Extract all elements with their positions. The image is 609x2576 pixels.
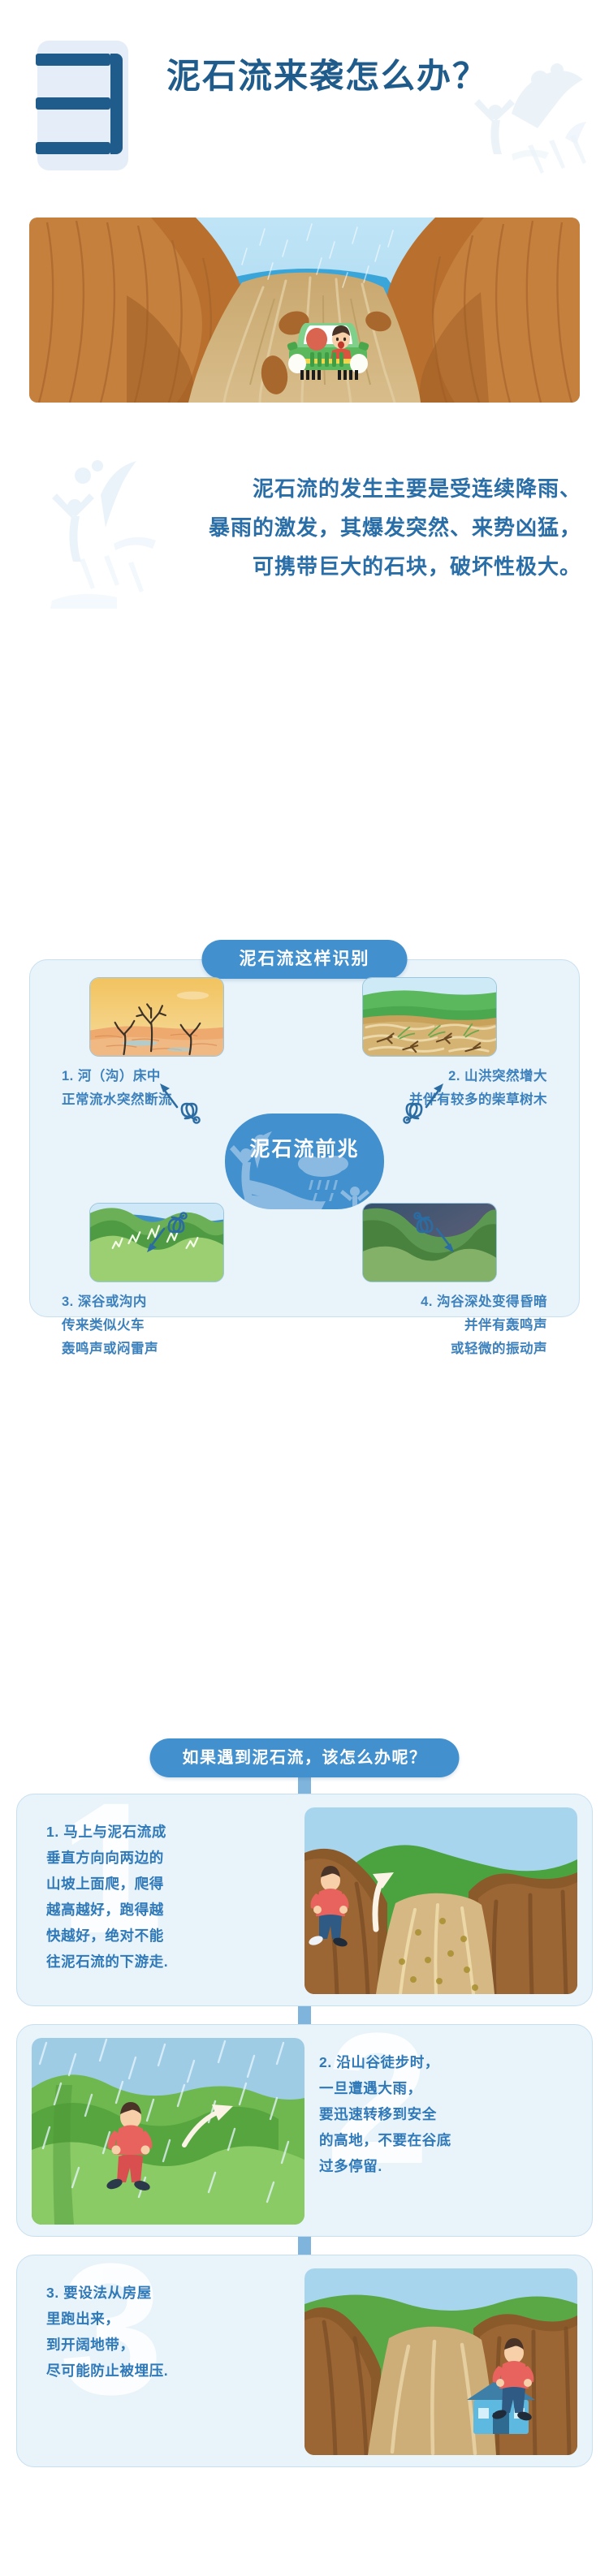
header-decoration-icon bbox=[414, 16, 601, 187]
squiggle-arrow-top-left-icon bbox=[158, 1081, 205, 1125]
step-3-text: 3. 要设法从房屋 里跑出来， 到开阔地带， 尽可能防止被埋压. bbox=[46, 2280, 306, 2384]
identify-item-4-caption: 4. 沟谷深处变得昏暗 并伴有轰鸣声 或轻微的振动声 bbox=[318, 1290, 562, 1361]
identify-item-4-line-3: 或轻微的振动声 bbox=[318, 1338, 547, 1361]
identify-section: 泥石流这样识别 bbox=[29, 940, 580, 1317]
squiggle-arrow-bottom-right-icon bbox=[409, 1211, 456, 1255]
person-running-uphill-in-rain-icon bbox=[32, 2038, 304, 2225]
step-1-line-1: 1. 马上与泥石流成 bbox=[46, 1819, 290, 1845]
person-climbing-slope-away-from-mudflow-icon bbox=[304, 1807, 577, 1994]
step-3-line-4: 尽可能防止被埋压. bbox=[46, 2358, 306, 2384]
step-card-2[interactable]: 2 2. 沿山谷徒步时， 一旦遭遇大雨， 要迅速转移到安全 的高地，不要在谷底 … bbox=[16, 2024, 593, 2237]
intro-section: 泥石流的发生主要是受连续降雨、 暴雨的激发，其爆发突然、来势凶猛， 可携带巨大的… bbox=[0, 454, 609, 657]
connector-2 bbox=[298, 2006, 311, 2026]
step-2-text: 2. 沿山谷徒步时， 一旦遭遇大雨， 要迅速转移到安全 的高地，不要在谷底 过多… bbox=[319, 2049, 563, 2179]
intro-line-3: 可携带巨大的石块，破坏性极大。 bbox=[29, 547, 581, 586]
step-2-line-3: 要迅速转移到安全 bbox=[319, 2101, 563, 2127]
identify-section-title: 泥石流这样识别 bbox=[202, 940, 408, 979]
step-1-line-3: 山坡上面爬，爬得 bbox=[46, 1871, 290, 1897]
identify-item-3-caption: 3. 深谷或沟内 传来类似火车 轰鸣声或闷雷声 bbox=[47, 1290, 291, 1361]
step-2-line-5: 过多停留. bbox=[319, 2153, 563, 2179]
intro-line-2: 暴雨的激发，其爆发突然、来势凶猛， bbox=[29, 508, 581, 547]
step-2-line-1: 2. 沿山谷徒步时， bbox=[319, 2049, 563, 2075]
identify-item-3-line-1: 3. 深谷或沟内 bbox=[62, 1290, 291, 1314]
identify-item-3-line-2: 传来类似火车 bbox=[62, 1314, 291, 1338]
intro-line-1: 泥石流的发生主要是受连续降雨、 bbox=[29, 469, 581, 508]
step-3-line-1: 3. 要设法从房屋 bbox=[46, 2280, 306, 2306]
step-card-3[interactable]: 3 3. 要设法从房屋 里跑出来， 到开阔地带， 尽可能防止被埋压. bbox=[16, 2255, 593, 2467]
step-1-line-2: 垂直方向向两边的 bbox=[46, 1845, 290, 1871]
identify-center-badge: 泥石流前兆 bbox=[225, 1114, 384, 1209]
hero-illustration bbox=[29, 218, 580, 403]
squiggle-arrow-top-right-icon bbox=[399, 1081, 446, 1125]
step-card-1[interactable]: 1 1. 马上与泥石流成 垂直方向向两边的 山坡上面爬，爬得 越高越好，跑得越 … bbox=[16, 1794, 593, 2006]
intro-paragraph: 泥石流的发生主要是受连续降雨、 暴雨的激发，其爆发突然、来势凶猛， 可携带巨大的… bbox=[29, 469, 581, 586]
step-1-line-6: 往泥石流的下游走. bbox=[46, 1949, 290, 1975]
connector-3 bbox=[298, 2237, 311, 2256]
step-2-line-4: 的高地，不要在谷底 bbox=[319, 2127, 563, 2153]
step-1-text: 1. 马上与泥石流成 垂直方向向两边的 山坡上面爬，爬得 越高越好，跑得越 快越… bbox=[46, 1819, 290, 1975]
page-title: 泥石流来袭怎么办？ bbox=[166, 49, 488, 98]
muddy-flood-debris-icon bbox=[362, 977, 497, 1057]
header-number-bar-top bbox=[36, 54, 110, 66]
connector-1 bbox=[298, 1776, 311, 1795]
mudflow-canyon-jeep-illustration bbox=[29, 218, 580, 403]
identify-item-4-line-2: 并伴有轰鸣声 bbox=[318, 1314, 547, 1338]
step-2-line-2: 一旦遭遇大雨， bbox=[319, 2075, 563, 2101]
squiggle-arrow-bottom-left-icon bbox=[145, 1211, 192, 1255]
header-number-bar-right bbox=[110, 54, 123, 154]
header-number-badge bbox=[29, 34, 131, 172]
page-header: 泥石流来袭怎么办？ bbox=[0, 0, 609, 203]
step-1-line-4: 越高越好，跑得越 bbox=[46, 1897, 290, 1923]
what-to-do-section-title: 如果遇到泥石流，该怎么办呢？ bbox=[150, 1738, 460, 1777]
step-3-line-2: 里跑出来， bbox=[46, 2306, 306, 2332]
step-3-line-3: 到开阔地带， bbox=[46, 2332, 306, 2358]
identify-center-label: 泥石流前兆 bbox=[225, 1133, 384, 1162]
person-fleeing-house-mudflow-icon bbox=[304, 2268, 577, 2455]
header-number-bar-bottom bbox=[36, 142, 110, 154]
step-1-line-5: 快越好，绝对不能 bbox=[46, 1923, 290, 1949]
header-number-bar-middle bbox=[36, 97, 110, 110]
identify-item-3-line-3: 轰鸣声或闷雷声 bbox=[62, 1338, 291, 1361]
dry-riverbed-bare-trees-icon bbox=[89, 977, 224, 1057]
identify-item-4-line-1: 4. 沟谷深处变得昏暗 bbox=[318, 1290, 547, 1314]
